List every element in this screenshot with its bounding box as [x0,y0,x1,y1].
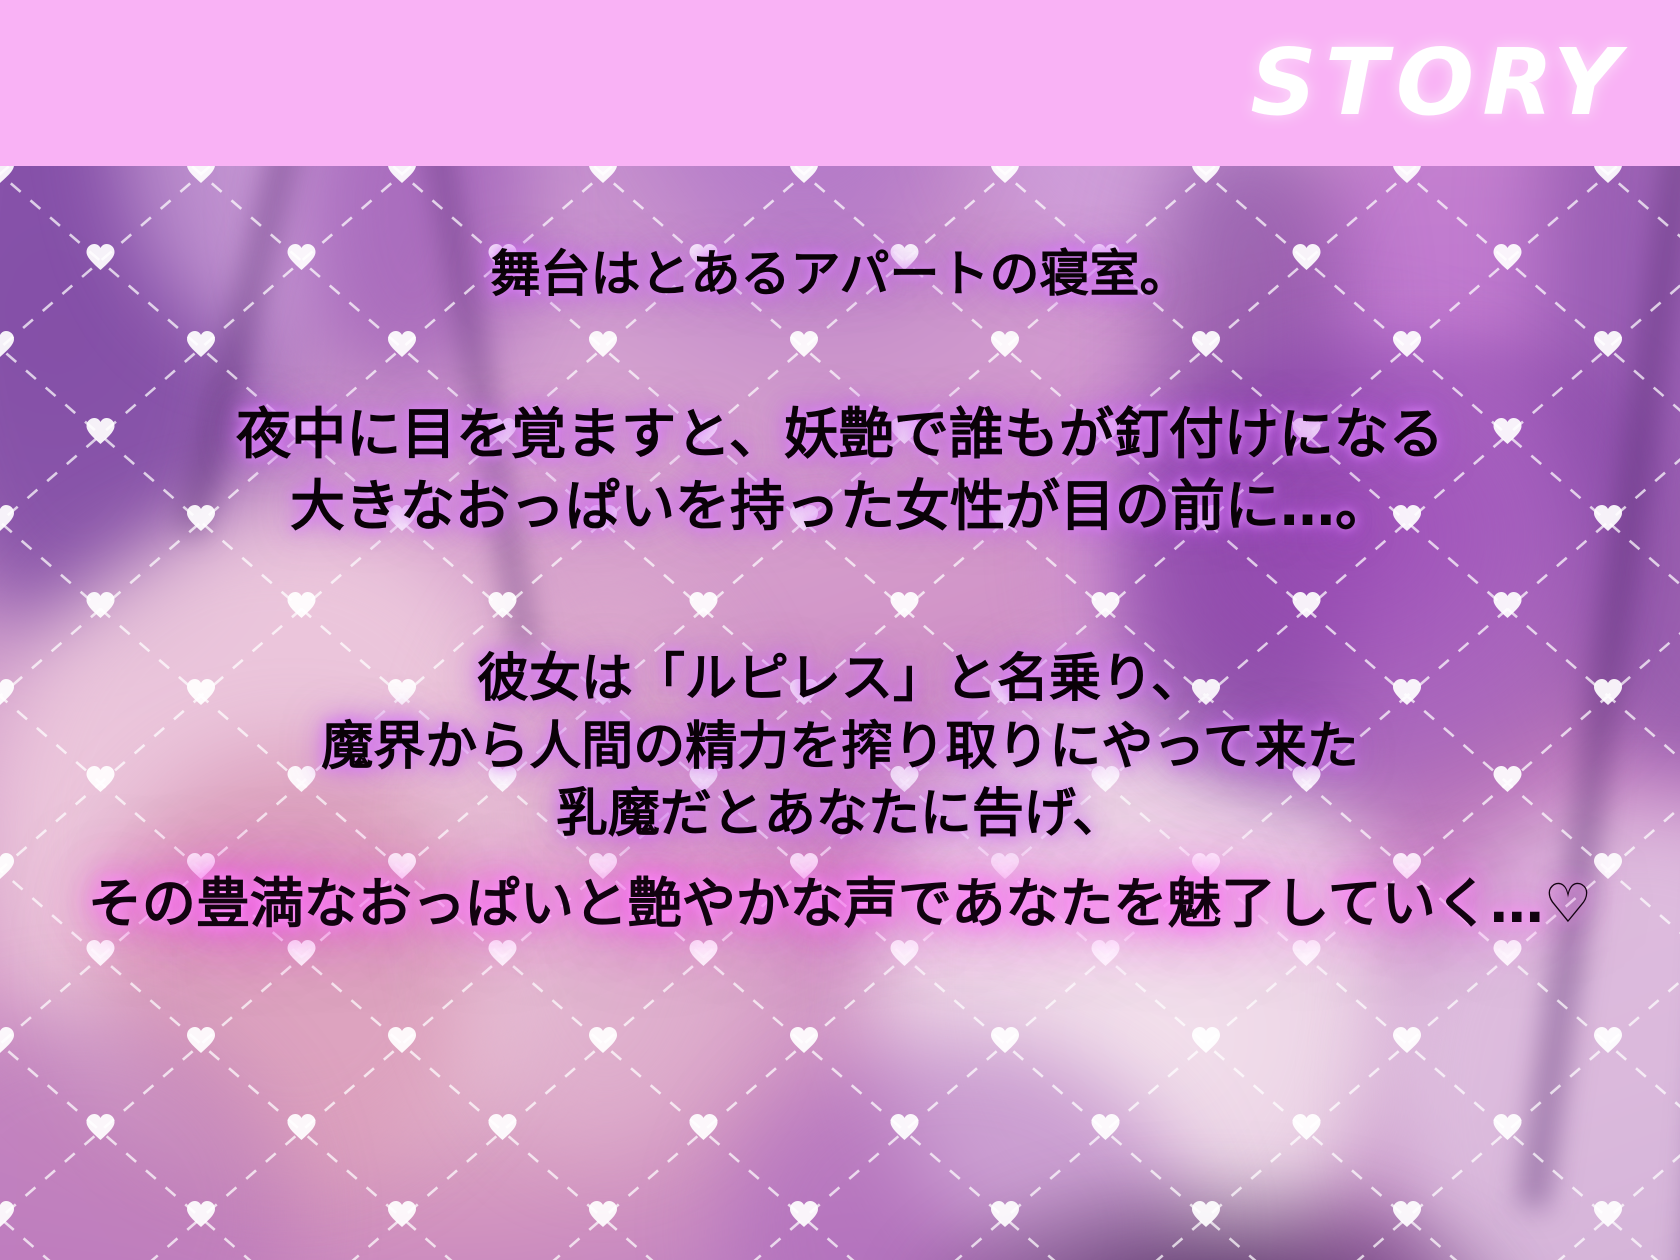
story-line: 魔界から人間の精力を搾り取りにやって来た [0,714,1680,782]
story-content: 舞台はとあるアパートの寝室。 夜中に目を覚ますと、妖艶で誰もが釘付けになる 大き… [0,166,1680,1260]
story-paragraph-2: 夜中に目を覚ますと、妖艶で誰もが釘付けになる 大きなおっぱいを持った女性が目の前… [0,399,1680,542]
story-line: 夜中に目を覚ますと、妖艶で誰もが釘付けになる [0,399,1680,471]
story-line: 舞台はとあるアパートの寝室。 [0,242,1680,307]
story-page: STORY 舞台はとあるアパートの寝室。 夜中に目を覚ますと、妖艶で誰もが釘付け… [0,0,1680,1260]
story-line-highlight: その豊満なおっぱいと艶やかな声であなたを魅了していく…♡ [88,872,1592,935]
story-line: 乳魔だとあなたに告げ、 [0,781,1680,849]
story-banner: STORY [0,0,1680,166]
story-line: 大きなおっぱいを持った女性が目の前に…。 [0,471,1680,543]
story-line: 彼女は「ルピレス」と名乗り、 [0,646,1680,714]
page-title: STORY [1250,37,1628,129]
story-paragraph-1: 舞台はとあるアパートの寝室。 [0,242,1680,307]
story-paragraph-4: その豊満なおっぱいと艶やかな声であなたを魅了していく…♡ [0,872,1680,937]
story-paragraph-3: 彼女は「ルピレス」と名乗り、 魔界から人間の精力を搾り取りにやって来た 乳魔だと… [0,646,1680,849]
